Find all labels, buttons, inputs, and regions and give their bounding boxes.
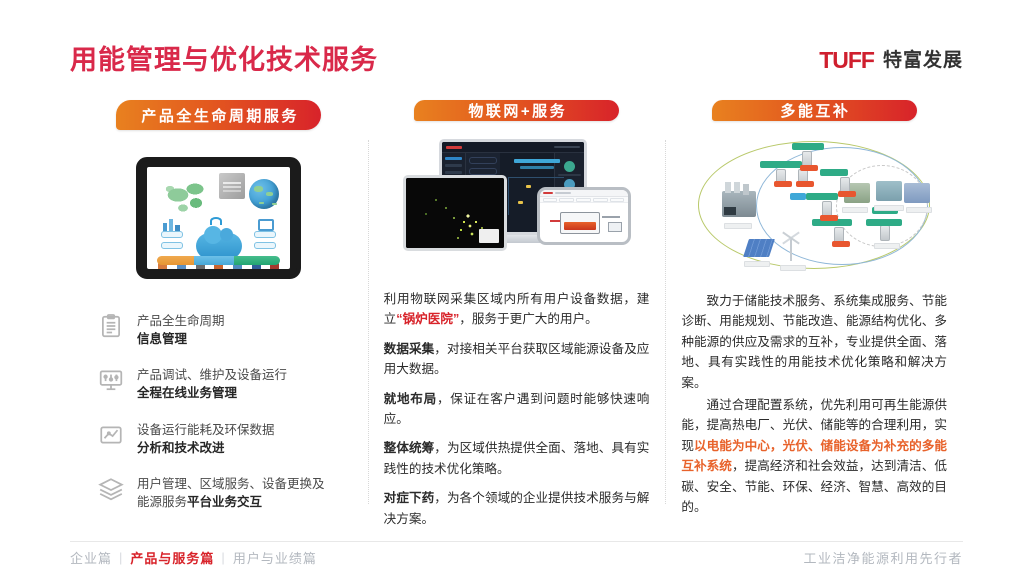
phone-titlebar xyxy=(540,190,628,197)
column-multi-energy: 多能互补 xyxy=(665,100,963,512)
white-label xyxy=(842,207,868,213)
feature-line2-prefix: 能源服务 xyxy=(137,495,187,509)
text-run-highlight: “锅炉医院” xyxy=(396,312,459,326)
white-label xyxy=(724,223,752,229)
feature-list: 产品全生命周期 信息管理 产品调试、维护及设备运行 xyxy=(80,312,358,511)
white-label xyxy=(780,265,806,271)
equipment-block-icon xyxy=(608,222,622,232)
paragraph: 致力于储能技术服务、系统集成服务、节能诊断、用能规划、节能改造、能源结构优化、多… xyxy=(681,291,947,393)
breadcrumb-separator: | xyxy=(221,550,225,565)
feature-line2: 平台业务交互 xyxy=(187,495,262,509)
three-column-body: 产品全生命周期服务 xyxy=(70,100,963,512)
orange-label xyxy=(800,165,818,171)
orange-label xyxy=(796,181,814,187)
pipe-line-left xyxy=(550,220,560,222)
breadcrumb-item-customers-performance[interactable]: 用户与业绩篇 xyxy=(233,548,317,567)
feature-line1: 产品调试、维护及设备运行 xyxy=(137,368,287,382)
brand-logo: TUFF 特富发展 xyxy=(819,49,963,72)
white-label xyxy=(744,261,770,267)
globe-icon xyxy=(249,179,279,209)
slide-footer: 企业篇 | 产品与服务篇 | 用户与业绩篇 工业洁净能源利用先行者 xyxy=(70,541,963,565)
feature-line1: 用户管理、区域服务、设备更换及 xyxy=(137,477,325,491)
orange-label xyxy=(832,241,850,247)
tablet-device-icon xyxy=(136,157,301,279)
paragraph: 利用物联网采集区域内所有用户设备数据，建立“锅炉医院”，服务于更广大的用户。 xyxy=(384,289,650,330)
slide-root: 用能管理与优化技术服务 TUFF 特富发展 产品全生命周期服务 xyxy=(0,0,1033,587)
layers-icon xyxy=(98,476,124,502)
building-park-icon xyxy=(876,181,902,201)
column-iot-service: 物联网+服务 xyxy=(368,100,666,512)
paragraph: 就地布局，保证在客户遇到问题时能够快速响应。 xyxy=(384,389,650,430)
breadcrumb-item-enterprise[interactable]: 企业篇 xyxy=(70,548,112,567)
desktop-pc-icon xyxy=(258,219,274,231)
slide-header: 用能管理与优化技术服务 TUFF 特富发展 xyxy=(70,38,963,82)
power-plant-icon xyxy=(722,191,756,217)
paragraph-block-energy: 致力于储能技术服务、系统集成服务、节能诊断、用能规划、节能改造、能源结构优化、多… xyxy=(675,291,953,519)
progress-legend-bar xyxy=(157,256,280,265)
white-label xyxy=(874,243,900,249)
feature-text: 用户管理、区域服务、设备更换及 能源服务平台业务交互 xyxy=(137,475,325,511)
energy-network-diagram xyxy=(694,135,934,277)
paragraph: 数据采集，对接相关平台获取区域能源设备及应用大数据。 xyxy=(384,339,650,380)
footer-tagline: 工业洁净能源利用先行者 xyxy=(803,548,963,567)
energy-hub-node xyxy=(790,193,806,200)
tag-left-2 xyxy=(161,242,183,249)
tuff-wordmark-icon: TUFF xyxy=(819,49,874,72)
pill-header-product-lifecycle: 产品全生命周期服务 xyxy=(116,100,321,130)
green-label xyxy=(792,143,824,150)
wifi-signal-icon xyxy=(210,217,222,225)
paragraph-block-iot: 利用物联网采集区域内所有用户设备数据，建立“锅炉医院”，服务于更广大的用户。 数… xyxy=(378,289,656,529)
visual-tablet-cloud-platform xyxy=(80,144,358,292)
feature-item: 用户管理、区域服务、设备更换及 能源服务平台业务交互 xyxy=(98,475,358,511)
feature-text: 设备运行能耗及环保数据 分析和技术改进 xyxy=(137,421,275,457)
orange-label xyxy=(820,215,838,221)
building-city-icon xyxy=(904,183,930,203)
wind-turbine-icon xyxy=(790,239,792,261)
tablet-map-device-icon xyxy=(403,175,507,251)
tag-right-1 xyxy=(254,231,276,238)
orange-label xyxy=(774,181,792,187)
clipboard-icon xyxy=(98,313,124,339)
pill-header-iot-service: 物联网+服务 xyxy=(414,100,619,121)
feature-item: 产品调试、维护及设备运行 全程在线业务管理 xyxy=(98,366,358,402)
data-center-cube-icon xyxy=(219,173,245,199)
device-group xyxy=(403,135,631,275)
green-label xyxy=(760,161,802,168)
text-run-bold: 整体统筹 xyxy=(384,441,435,455)
column-product-lifecycle: 产品全生命周期服务 xyxy=(70,100,368,512)
text-run: 致力于储能技术服务、系统集成服务、节能诊断、用能规划、节能改造、能源结构优化、多… xyxy=(681,294,947,390)
feature-line2: 信息管理 xyxy=(137,332,187,346)
tablet-screen xyxy=(147,167,290,269)
feature-line1: 产品全生命周期 xyxy=(137,314,225,328)
white-label xyxy=(906,207,932,213)
boiler-diagram-icon xyxy=(560,212,600,234)
brand-chinese-name: 特富发展 xyxy=(883,51,963,70)
breadcrumb: 企业篇 | 产品与服务篇 | 用户与业绩篇 xyxy=(70,548,317,567)
green-label xyxy=(866,219,902,226)
breadcrumb-item-products-services[interactable]: 产品与服务篇 xyxy=(130,548,214,567)
pill-header-multi-energy: 多能互补 xyxy=(712,100,917,121)
feature-item: 设备运行能耗及环保数据 分析和技术改进 xyxy=(98,421,358,457)
visual-energy-network xyxy=(675,135,953,277)
page-title: 用能管理与优化技术服务 xyxy=(70,47,378,74)
monitor-settings-icon xyxy=(98,367,124,393)
green-label xyxy=(806,193,838,200)
text-run-bold: 就地布局 xyxy=(384,392,437,406)
paragraph: 通过合理配置系统，优先利用可再生能源供能，提高热电厂、光伏、储能等的合理利用，实… xyxy=(681,395,947,517)
feature-line1: 设备运行能耗及环保数据 xyxy=(137,423,275,437)
tag-left-1 xyxy=(161,231,183,238)
paragraph: 整体统筹，为区域供热提供全面、落地、具有实践性的技术优化策略。 xyxy=(384,438,650,479)
feature-text: 产品全生命周期 信息管理 xyxy=(137,312,225,348)
feature-line2: 分析和技术改进 xyxy=(137,441,225,455)
storage-tank-icon xyxy=(880,225,890,241)
text-run: ，服务于更广大的用户。 xyxy=(459,312,598,326)
map-legend-badge xyxy=(479,229,499,243)
breadcrumb-separator: | xyxy=(119,550,123,565)
white-label xyxy=(874,205,904,211)
laptop-titlebar xyxy=(442,142,584,153)
feature-line2: 全程在线业务管理 xyxy=(137,386,237,400)
orange-label xyxy=(838,191,856,197)
pipe-line-right xyxy=(602,216,620,218)
chart-image-icon xyxy=(98,422,124,448)
tag-right-2 xyxy=(254,242,276,249)
phone-tabbar xyxy=(540,197,628,203)
text-run-bold: 对症下药 xyxy=(384,491,435,505)
green-label xyxy=(820,169,848,176)
feature-text: 产品调试、维护及设备运行 全程在线业务管理 xyxy=(137,366,287,402)
text-run-bold: 数据采集 xyxy=(384,342,435,356)
visual-multi-device-dashboard xyxy=(378,135,656,275)
paragraph: 对症下药，为各个领域的企业提供技术服务与解决方案。 xyxy=(384,488,650,529)
china-map-icon xyxy=(161,179,213,217)
phone-device-icon xyxy=(537,187,631,245)
feature-item: 产品全生命周期 信息管理 xyxy=(98,312,358,348)
